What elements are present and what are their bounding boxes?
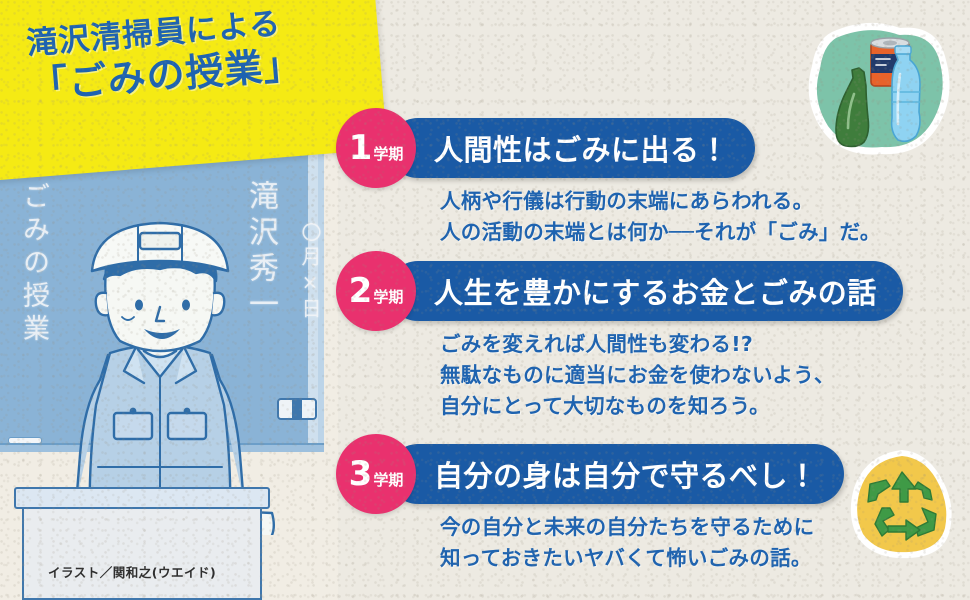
term-3-heading: 自分の身は自分で守るべし！	[434, 453, 818, 495]
podium-body	[22, 495, 262, 600]
term-1-badge-label: 学期	[373, 147, 403, 162]
podium-top	[14, 487, 270, 509]
term-3-badge: 3 学期	[336, 434, 416, 514]
term-2-body: ごみを変えれば人間性も変わる!? 無駄なものに適当にお金を使わないよう、 自分に…	[440, 329, 835, 422]
term-3-number: 3	[349, 457, 373, 491]
blackboard-eraser-icon	[277, 398, 317, 420]
term-2-heading: 人生を豊かにするお金とごみの話	[434, 270, 877, 312]
term-1-body: 人柄や行儀は行動の末端にあらわれる。 人の活動の末端とは何か──それが「ごみ」だ…	[440, 186, 881, 248]
term-1-heading-bar: 人間性はごみに出る！	[388, 118, 755, 178]
term-3-body: 今の自分と未来の自分たちを守るために 知っておきたいヤバくて怖いごみの話。	[440, 512, 814, 574]
term-2-body-line-3: 自分にとって大切なものを知ろう。	[440, 391, 835, 422]
term-2-body-line-2: 無駄なものに適当にお金を使わないよう、	[440, 360, 835, 391]
term-2-badge-label: 学期	[373, 290, 403, 305]
term-2-body-line-1: ごみを変えれば人間性も変わる!?	[440, 329, 835, 360]
term-1-body-line-1: 人柄や行儀は行動の末端にあらわれる。	[440, 186, 881, 217]
term-3-body-line-1: 今の自分と未来の自分たちを守るために	[440, 512, 814, 543]
chalk-stick-icon	[8, 437, 42, 444]
term-1-number: 1	[349, 131, 373, 165]
term-3-heading-bar: 自分の身は自分で守るべし！	[388, 444, 844, 504]
teacher-illustration	[40, 205, 280, 535]
term-2-badge: 2 学期	[336, 251, 416, 331]
term-3-badge-label: 学期	[373, 473, 403, 488]
term-1-body-line-2: 人の活動の末端とは何か──それが「ごみ」だ。	[440, 217, 881, 248]
term-1-badge: 1 学期	[336, 108, 416, 188]
illustration-credit: イラスト／関和之(ウエイド)	[48, 562, 216, 581]
term-3-body-line-2: 知っておきたいヤバくて怖いごみの話。	[440, 543, 814, 574]
poster-root: ごみの授業 滝沢秀一 〇月×日	[0, 0, 970, 600]
chalk-text-date: 〇月×日	[296, 222, 325, 322]
bottles-cans-sticker	[796, 14, 956, 162]
term-2-heading-bar: 人生を豊かにするお金とごみの話	[388, 261, 903, 321]
term-1-heading: 人間性はごみに出る！	[434, 127, 729, 169]
recycle-symbol-sticker	[844, 446, 960, 562]
term-2-number: 2	[349, 274, 373, 308]
